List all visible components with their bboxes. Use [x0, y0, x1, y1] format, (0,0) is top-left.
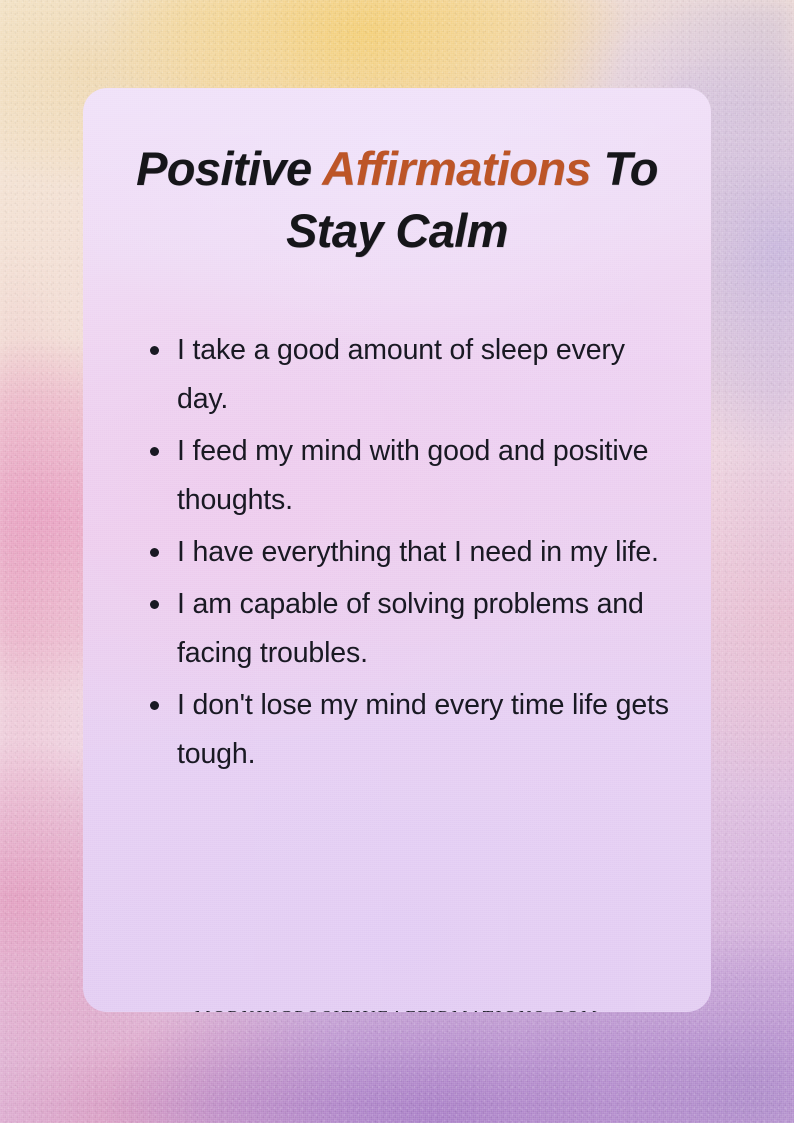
list-item-text: I feed my mind with good and positive th… [177, 435, 648, 516]
affirmation-card: Positive Affirmations To Stay Calm I tak… [83, 88, 711, 1012]
title-segment-after: To [591, 142, 658, 195]
poster-canvas: Positive Affirmations To Stay Calm I tak… [0, 0, 794, 1123]
page-title: Positive Affirmations To Stay Calm [115, 138, 679, 262]
bullet-icon [150, 346, 159, 355]
bullet-icon [150, 548, 159, 557]
title-segment-accent: Affirmations [322, 142, 591, 195]
footer-website: MORNINGPOSITIVEAFFIRMATIONS.COM [83, 1007, 711, 1012]
list-item-text: I am capable of solving problems and fac… [177, 588, 644, 669]
list-item: I have everything that I need in my life… [145, 528, 679, 577]
card-content: Positive Affirmations To Stay Calm I tak… [83, 138, 711, 1012]
title-line-two: Stay Calm [286, 204, 508, 257]
list-item: I take a good amount of sleep every day. [145, 326, 679, 424]
affirmations-list: I take a good amount of sleep every day.… [145, 326, 679, 779]
list-item: I am capable of solving problems and fac… [145, 580, 679, 678]
list-item: I don't lose my mind every time life get… [145, 681, 679, 779]
title-segment-before: Positive [136, 142, 322, 195]
list-item-text: I don't lose my mind every time life get… [177, 689, 669, 770]
bullet-icon [150, 447, 159, 456]
list-item: I feed my mind with good and positive th… [145, 427, 679, 525]
bullet-icon [150, 600, 159, 609]
list-item-text: I take a good amount of sleep every day. [177, 334, 625, 415]
bullet-icon [150, 701, 159, 710]
title-divider [155, 289, 639, 292]
list-item-text: I have everything that I need in my life… [177, 536, 659, 568]
